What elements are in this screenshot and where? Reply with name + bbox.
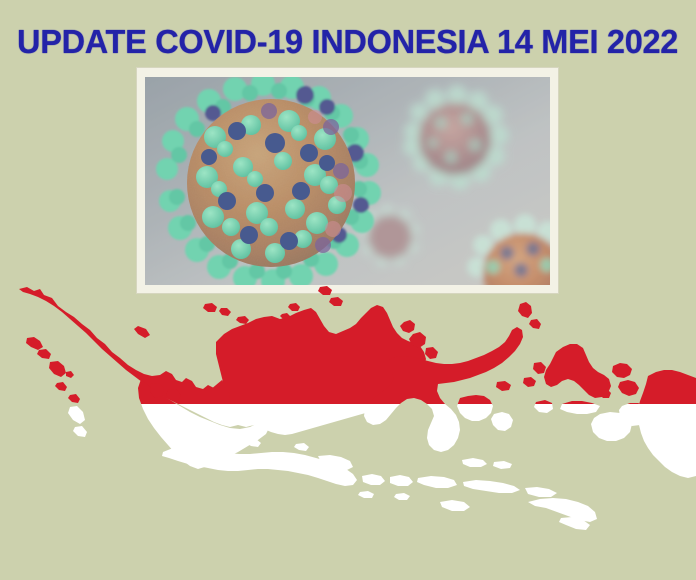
poster-canvas: UPDATE COVID-19 INDONESIA 14 MEI 2022 bbox=[0, 0, 696, 580]
page-title: UPDATE COVID-19 INDONESIA 14 MEI 2022 bbox=[17, 23, 678, 61]
virus-photo bbox=[145, 77, 550, 285]
title-bar: UPDATE COVID-19 INDONESIA 14 MEI 2022 bbox=[0, 19, 696, 65]
virus-photo-frame bbox=[137, 68, 558, 293]
indonesia-map bbox=[0, 286, 696, 580]
